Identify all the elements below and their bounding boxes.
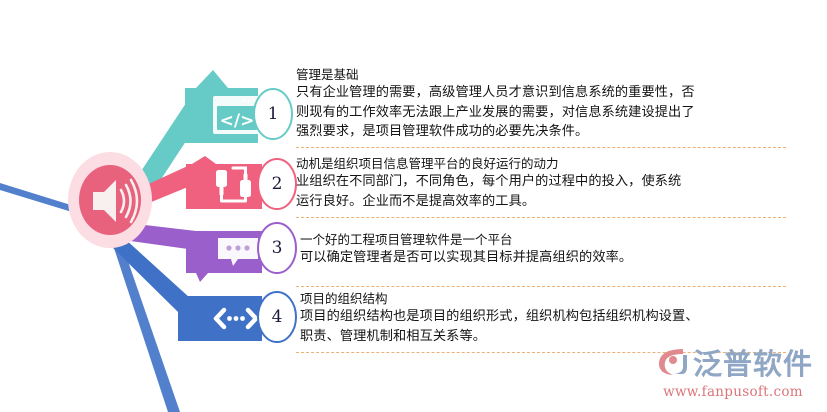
branch-number-1: 1	[255, 91, 291, 137]
fanpu-mark-icon	[653, 345, 689, 379]
svg-text:</>: </>	[220, 111, 255, 131]
branch-1-body-line-2: 则现有的工作效率无法跟上产业发展的需要，对信息系统建设提出了	[296, 103, 695, 123]
branch-2-body-line-2: 运行良好。企业而不是提高效率的工具。	[296, 192, 681, 212]
brand-logo: 泛普软件 www.fanpusoft.com	[653, 341, 813, 400]
branch-3-body: 可以确定管理者是否可以实现其目标并提高组织的效率。	[300, 248, 632, 268]
brand-url: www.fanpusoft.com	[663, 384, 803, 400]
branch-3-title: 一个好的工程项目管理软件是一个平台	[300, 231, 632, 248]
branch-4-body-line-2: 职责、管理机制和相互关系等。	[300, 327, 699, 347]
branch-1-body-line-1: 只有企业管理的需要，高级管理人员才意识到信息系统的重要性，否	[296, 83, 695, 103]
infographic-canvas: </>	[0, 0, 827, 412]
brand-name: 泛普软件	[693, 341, 813, 383]
branch-4-body-line-1: 项目的组织结构也是项目的组织形式，组织机构包括组织机构设置、	[300, 307, 699, 327]
branch-2-title: 动机是组织项目信息管理平台的良好运行的动力	[296, 155, 681, 172]
branch-number-1-text: 1	[268, 104, 279, 124]
branch-1-body-line-3: 强烈要求，是项目管理软件成功的必要先决条件。	[296, 122, 695, 142]
branch-4-text: 项目的组织结构 项目的组织结构也是项目的组织形式，组织机构包括组织机构设置、 职…	[300, 290, 699, 346]
branch-2-text: 动机是组织项目信息管理平台的良好运行的动力 业组织在不同部门，不同角色，每个用户…	[296, 155, 681, 211]
separator-1	[296, 147, 786, 148]
branch-3-body-line-1: 可以确定管理者是否可以实现其目标并提高组织的效率。	[300, 248, 632, 268]
separator-2	[296, 217, 786, 218]
separator-3	[296, 286, 786, 287]
brand-logo-row: 泛普软件	[653, 341, 813, 383]
branch-number-4-text: 4	[272, 307, 283, 327]
tail-line-left-upper	[0, 183, 74, 212]
branch-number-3-text: 3	[272, 238, 283, 258]
branch-number-3: 3	[259, 225, 295, 271]
branch-1-body: 只有企业管理的需要，高级管理人员才意识到信息系统的重要性，否 则现有的工作效率无…	[296, 83, 695, 142]
branch-number-2-text: 2	[272, 174, 283, 194]
branch-number-4: 4	[259, 294, 295, 340]
branch-1-text: 管理是基础 只有企业管理的需要，高级管理人员才意识到信息系统的重要性，否 则现有…	[296, 66, 695, 142]
branch-4-title: 项目的组织结构	[300, 290, 699, 307]
branch-3-text: 一个好的工程项目管理软件是一个平台 可以确定管理者是否可以实现其目标并提高组织的…	[300, 231, 632, 268]
branch-2-body-line-1: 业组织在不同部门，不同角色，每个用户的过程中的投入，使系统	[296, 172, 681, 192]
branch-4-body: 项目的组织结构也是项目的组织形式，组织机构包括组织机构设置、 职责、管理机制和相…	[300, 307, 699, 346]
branch-number-2: 2	[259, 161, 295, 207]
branch-1-title: 管理是基础	[296, 66, 695, 83]
branch-2-body: 业组织在不同部门，不同角色，每个用户的过程中的投入，使系统 运行良好。企业而不是…	[296, 172, 681, 211]
